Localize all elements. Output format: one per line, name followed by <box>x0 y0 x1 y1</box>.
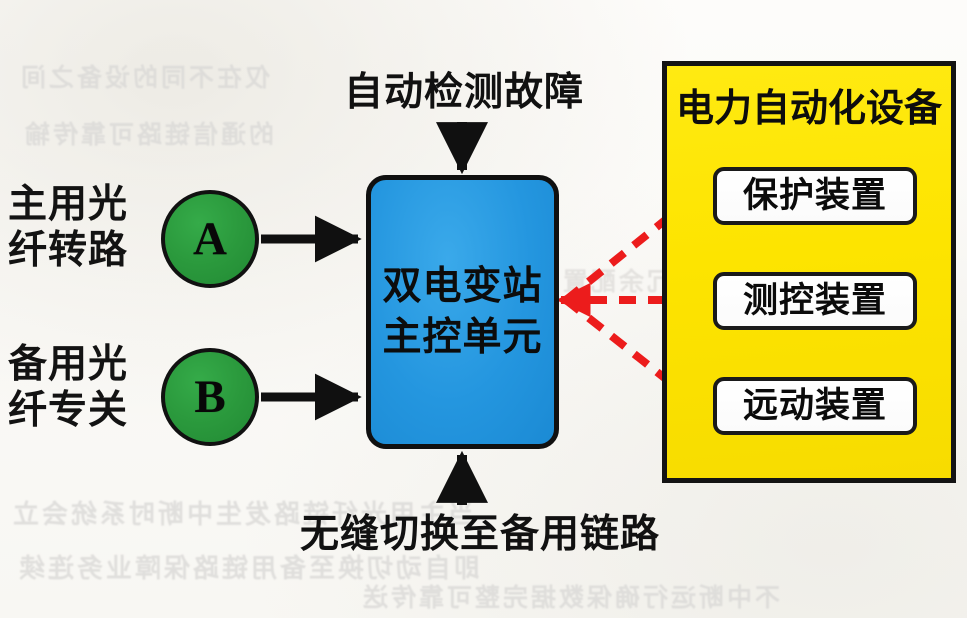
label-primary-fiber: 主用光 纤转路 <box>8 182 128 274</box>
power-automation-equipment-panel: 电力自动化设备 保护装置 测控装置 远动装置 <box>662 61 956 483</box>
equipment-panel-title: 电力自动化设备 <box>667 86 951 130</box>
substation-main-control-unit-box[interactable]: 双电变站 主控单元 <box>366 175 559 449</box>
device-box-protection[interactable]: 保护装置 <box>713 167 917 225</box>
primary-fiber-node[interactable]: A <box>161 190 259 288</box>
label-backup-fiber: 备用光 纤专关 <box>8 342 128 434</box>
diagram-canvas: 仅在不同的设备之间 的通信链路可靠传输 用链路冗余配置 当主用光纤链路发生中断时… <box>0 0 967 618</box>
device-box-measurement-control[interactable]: 测控装置 <box>713 272 917 330</box>
device-box-telecontrol[interactable]: 远动装置 <box>713 377 917 435</box>
controller-title-line-2: 主控单元 <box>382 313 542 362</box>
controller-title-line-1: 双电变站 <box>382 262 542 311</box>
caption-detect-fault: 自动检测故障 <box>344 70 584 116</box>
backup-fiber-node[interactable]: B <box>161 348 259 446</box>
caption-seamless-switch: 无缝切换至备用链路 <box>300 512 660 558</box>
